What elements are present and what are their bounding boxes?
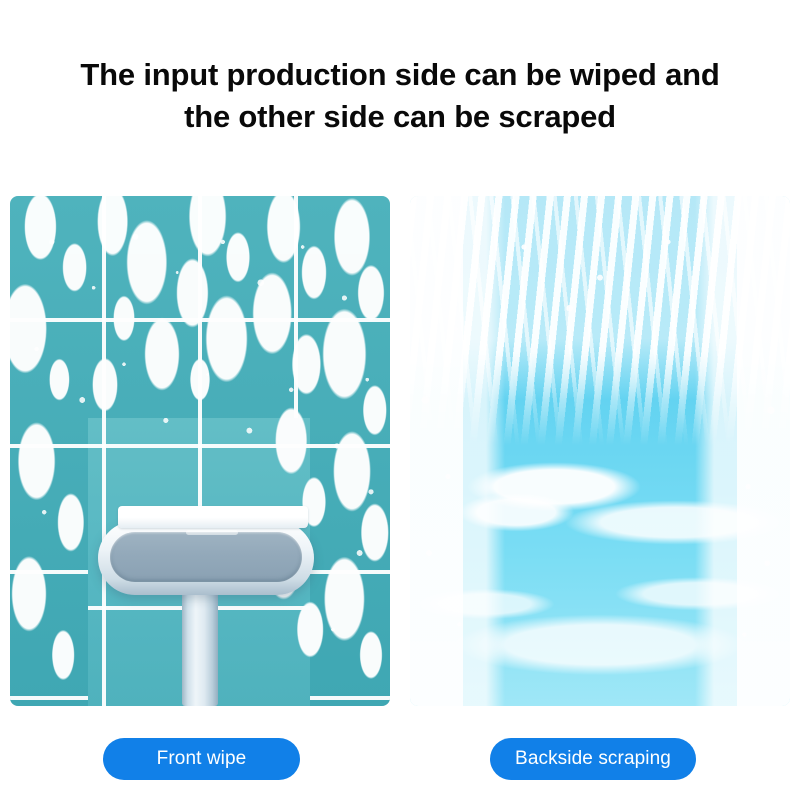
comparison-panels xyxy=(10,196,790,706)
backside-scraping-button[interactable]: Backside scraping xyxy=(490,738,696,780)
page-title: The input production side can be wiped a… xyxy=(0,54,800,137)
panel-front-wipe xyxy=(10,196,390,706)
headline-line-2: the other side can be scraped xyxy=(0,96,800,138)
panel-backside-scraping xyxy=(410,196,790,706)
product-feature-page: The input production side can be wiped a… xyxy=(0,0,800,800)
headline-line-1: The input production side can be wiped a… xyxy=(0,54,800,96)
front-wipe-button[interactable]: Front wipe xyxy=(103,738,300,780)
wiped-clean-swath xyxy=(88,418,310,706)
sky-through-glass xyxy=(410,196,790,706)
